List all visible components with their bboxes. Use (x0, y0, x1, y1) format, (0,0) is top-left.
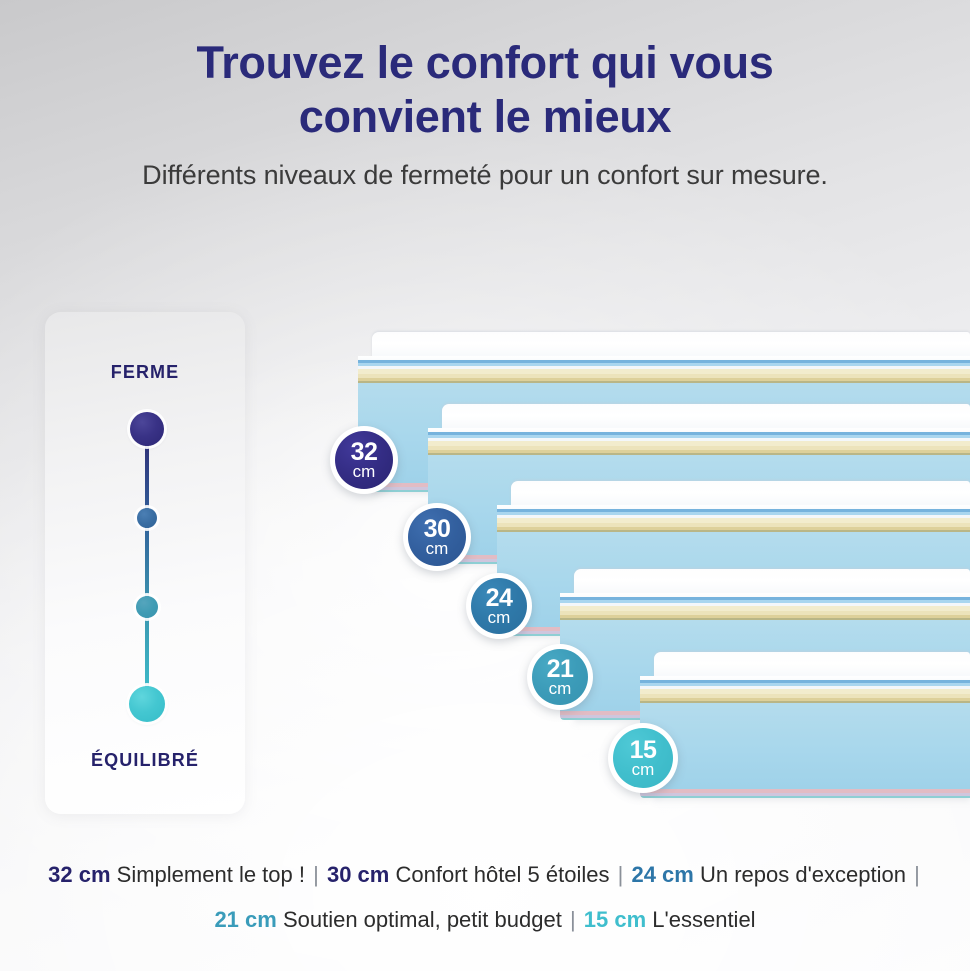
depth-badge-15[interactable]: 15 cm (608, 723, 678, 793)
depth-badge-unit: cm (426, 540, 449, 557)
mattress-stack: 32 cm 30 cm 24 cm 21 cm 15 c (0, 0, 970, 971)
depth-badge-unit: cm (632, 761, 655, 778)
caption-separator: | (311, 862, 321, 887)
firmness-infographic: Trouvez le confort qui vous convient le … (0, 0, 970, 971)
depth-badge-30[interactable]: 30 cm (403, 503, 471, 571)
caption-text-24: Un repos d'exception (700, 862, 906, 887)
caption-depth-30: 30 cm (327, 862, 389, 887)
caption-text-15: L'essentiel (652, 907, 755, 932)
layer-teal-base (640, 796, 970, 798)
caption-text-32: Simplement le top ! (117, 862, 305, 887)
depth-badge-unit: cm (549, 680, 572, 697)
layer-support-core (640, 703, 970, 789)
caption-depth-21: 21 cm (214, 907, 276, 932)
depth-badge-32[interactable]: 32 cm (330, 426, 398, 494)
caption-depth-32: 32 cm (48, 862, 110, 887)
caption: 32 cm Simplement le top ! | 30 cm Confor… (40, 852, 930, 942)
depth-badge-unit: cm (353, 463, 376, 480)
mattress-side-profile (640, 676, 970, 798)
depth-badge-21[interactable]: 21 cm (527, 644, 593, 710)
caption-separator: | (616, 862, 626, 887)
caption-text-21: Soutien optimal, petit budget (283, 907, 562, 932)
caption-separator: | (568, 907, 578, 932)
caption-text-30: Confort hôtel 5 étoiles (395, 862, 609, 887)
caption-depth-15: 15 cm (584, 907, 646, 932)
caption-depth-24: 24 cm (631, 862, 693, 887)
depth-badge-24[interactable]: 24 cm (466, 573, 532, 639)
depth-badge-unit: cm (488, 609, 511, 626)
caption-separator: | (912, 862, 922, 887)
